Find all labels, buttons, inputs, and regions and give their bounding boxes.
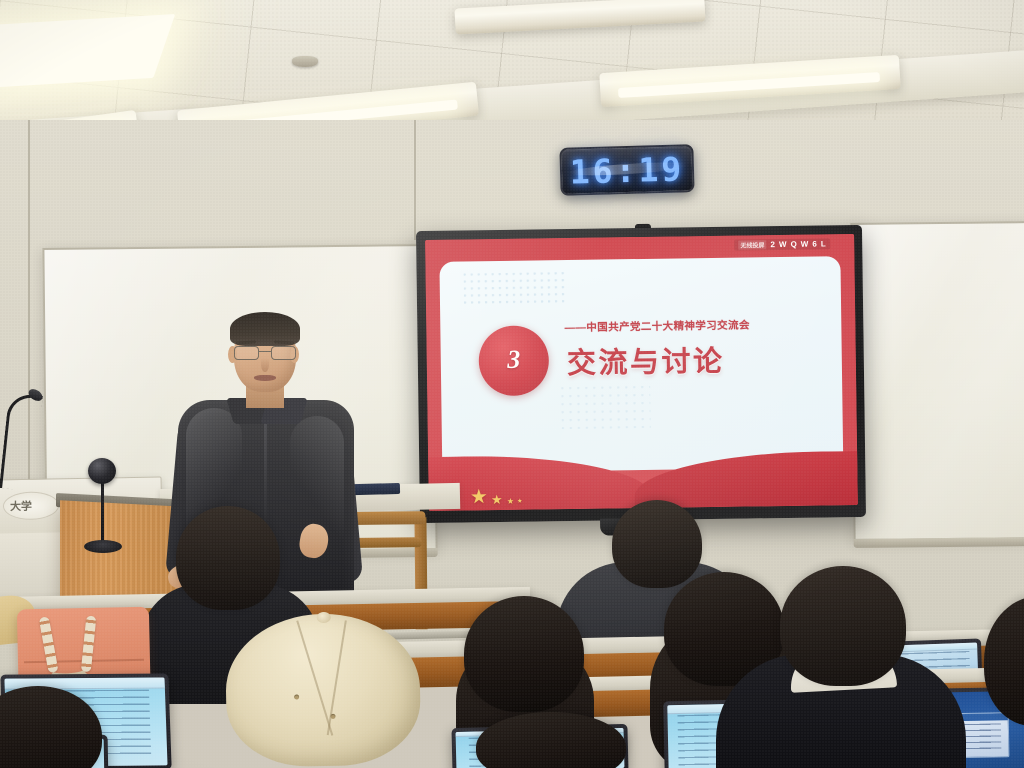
presenter-nose — [261, 358, 269, 372]
clock-time-display: 16:19 — [569, 152, 684, 188]
desk-microphone-base — [84, 540, 122, 553]
cast-code: 2 W Q W 6 L — [770, 239, 826, 249]
podium-logo-text: 大学 — [10, 498, 32, 514]
slide-dot-pattern-bottom — [561, 385, 650, 428]
wall-seam-center — [414, 120, 416, 240]
student-back-row-head — [612, 500, 702, 588]
footer-wave-right — [634, 451, 858, 508]
podium-university-logo: 大学 — [3, 491, 59, 520]
slide-title: 交流与讨论 — [567, 338, 725, 382]
star-icon-4: ★ — [517, 498, 522, 504]
presentation-slide: 无线投屏 2 W Q W 6 L 3 ——中国共产党二十大精神学习交流会 交流与… — [425, 234, 858, 511]
cast-icon: 无线投屏 — [738, 240, 766, 249]
glasses-lens-left — [234, 346, 259, 360]
student-long-hair-center-head — [464, 596, 584, 712]
digital-clock: 16:19 — [559, 144, 694, 196]
slide-dot-pattern-top — [463, 272, 568, 307]
display-bezel: 无线投屏 2 W Q W 6 L 3 ——中国共产党二十大精神学习交流会 交流与… — [416, 225, 866, 523]
slide-section-number: 3 — [507, 345, 520, 375]
glasses-bridge — [259, 351, 271, 352]
star-icon-3: ★ — [507, 498, 514, 506]
desk-microphone-head — [88, 458, 116, 484]
whiteboard-sheen-right — [852, 223, 1024, 539]
whiteboard-right — [850, 221, 1024, 541]
wireless-cast-badge: 无线投屏 2 W Q W 6 L — [734, 238, 830, 250]
star-icon-1: ★ — [470, 487, 488, 507]
student-white-collar-head — [780, 566, 906, 686]
student-baseball-cap — [225, 612, 422, 767]
cap-eyelet-1 — [294, 694, 299, 699]
whiteboard-marker-tray-right — [854, 537, 1024, 548]
cap-eyelet-2 — [330, 714, 335, 719]
cap-crown — [225, 612, 422, 767]
desk-microphone-stem — [101, 476, 104, 548]
presenter-mouth — [254, 375, 276, 381]
lecture-hall-photo: 16:19 无线投屏 2 W Q W 6 L 3 — [0, 0, 1024, 768]
student-front-left-head — [176, 506, 280, 610]
slide-subtitle: ——中国共产党二十大精神学习交流会 — [564, 317, 750, 335]
glasses-lens-right — [271, 346, 296, 360]
footer-wave-left — [428, 454, 652, 511]
smoke-detector-icon — [292, 56, 318, 67]
star-icon-2: ★ — [491, 493, 503, 506]
display-screen[interactable]: 无线投屏 2 W Q W 6 L 3 ——中国共产党二十大精神学习交流会 交流与… — [425, 234, 858, 511]
slide-section-number-badge: 3 — [478, 325, 549, 396]
clock-body: 16:19 — [559, 144, 694, 196]
presentation-display[interactable]: 无线投屏 2 W Q W 6 L 3 ——中国共产党二十大精神学习交流会 交流与… — [416, 225, 866, 523]
slide-content-area: 3 ——中国共产党二十大精神学习交流会 交流与讨论 — [439, 256, 843, 473]
